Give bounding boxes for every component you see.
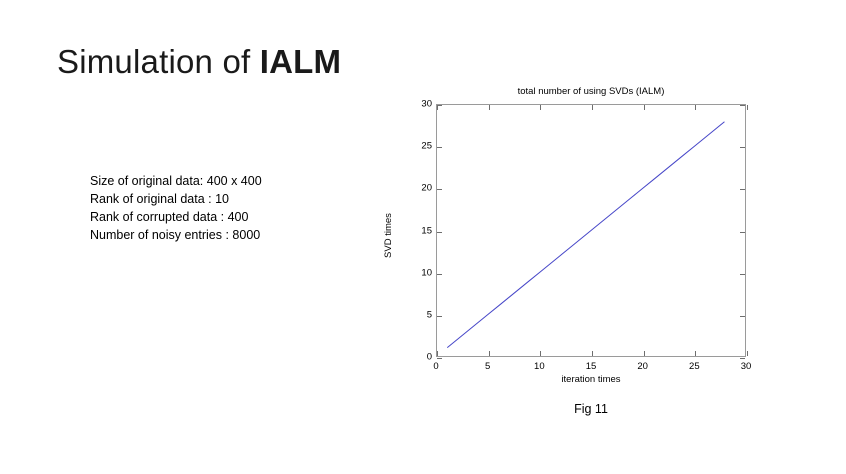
x-axis-tick <box>747 105 748 110</box>
page-title-plain: Simulation of <box>57 43 260 80</box>
x-tick-label: 20 <box>637 361 648 372</box>
x-tick-label: 10 <box>534 361 545 372</box>
x-axis-tick <box>695 351 696 356</box>
plot-box <box>436 104 746 357</box>
y-axis-tick <box>437 358 442 359</box>
x-axis-label: iteration times <box>436 374 746 385</box>
parameter-line-size: Size of original data: 400 x 400 <box>90 172 262 190</box>
y-axis-tick <box>437 147 442 148</box>
y-axis-tick <box>740 232 745 233</box>
y-tick-label: 10 <box>402 267 432 278</box>
x-tick-label: 25 <box>689 361 700 372</box>
x-axis-tick <box>489 351 490 356</box>
y-axis-tick <box>437 232 442 233</box>
x-axis-tick <box>747 351 748 356</box>
y-axis-tick <box>437 316 442 317</box>
y-axis-tick <box>740 105 745 106</box>
x-tick-label: 5 <box>485 361 490 372</box>
y-axis-tick <box>740 358 745 359</box>
page-title: Simulation of IALM <box>57 43 341 81</box>
simulation-parameters: Size of original data: 400 x 400 Rank of… <box>90 172 262 244</box>
figure-svd-plot: total number of using SVDs (IALM) 051015… <box>390 82 770 427</box>
x-tick-label: 30 <box>741 361 752 372</box>
x-axis-tick <box>644 105 645 110</box>
x-tick-label: 15 <box>586 361 597 372</box>
parameter-line-rank-original: Rank of original data : 10 <box>90 190 262 208</box>
x-axis-tick <box>437 351 438 356</box>
y-tick-label: 5 <box>402 309 432 320</box>
x-axis-tick <box>592 105 593 110</box>
y-tick-label: 30 <box>402 99 432 110</box>
x-axis-tick <box>540 105 541 110</box>
figure-caption: Fig 11 <box>436 402 746 416</box>
x-axis-tick <box>489 105 490 110</box>
y-axis-tick <box>740 189 745 190</box>
x-axis-tick <box>592 351 593 356</box>
parameter-line-rank-corrupted: Rank of corrupted data : 400 <box>90 208 262 226</box>
y-axis-tick <box>740 274 745 275</box>
y-tick-label: 15 <box>402 225 432 236</box>
y-axis-tick <box>437 274 442 275</box>
x-axis-tick <box>540 351 541 356</box>
y-axis-tick <box>437 189 442 190</box>
x-axis-tick <box>644 351 645 356</box>
x-tick-label: 0 <box>433 361 438 372</box>
x-axis-tick <box>695 105 696 110</box>
y-axis-tick <box>740 147 745 148</box>
y-axis-label: SVD times <box>383 213 394 258</box>
y-tick-label: 0 <box>402 352 432 363</box>
parameter-line-noisy-entries: Number of noisy entries : 8000 <box>90 226 262 244</box>
chart-title: total number of using SVDs (IALM) <box>436 86 746 97</box>
y-axis-tick <box>437 105 442 106</box>
y-tick-label: 25 <box>402 141 432 152</box>
data-line-svg <box>437 105 745 356</box>
y-axis-tick <box>740 316 745 317</box>
plot-area <box>437 105 745 356</box>
page-title-strong: IALM <box>260 43 341 80</box>
data-series-line <box>447 122 724 348</box>
y-tick-label: 20 <box>402 183 432 194</box>
